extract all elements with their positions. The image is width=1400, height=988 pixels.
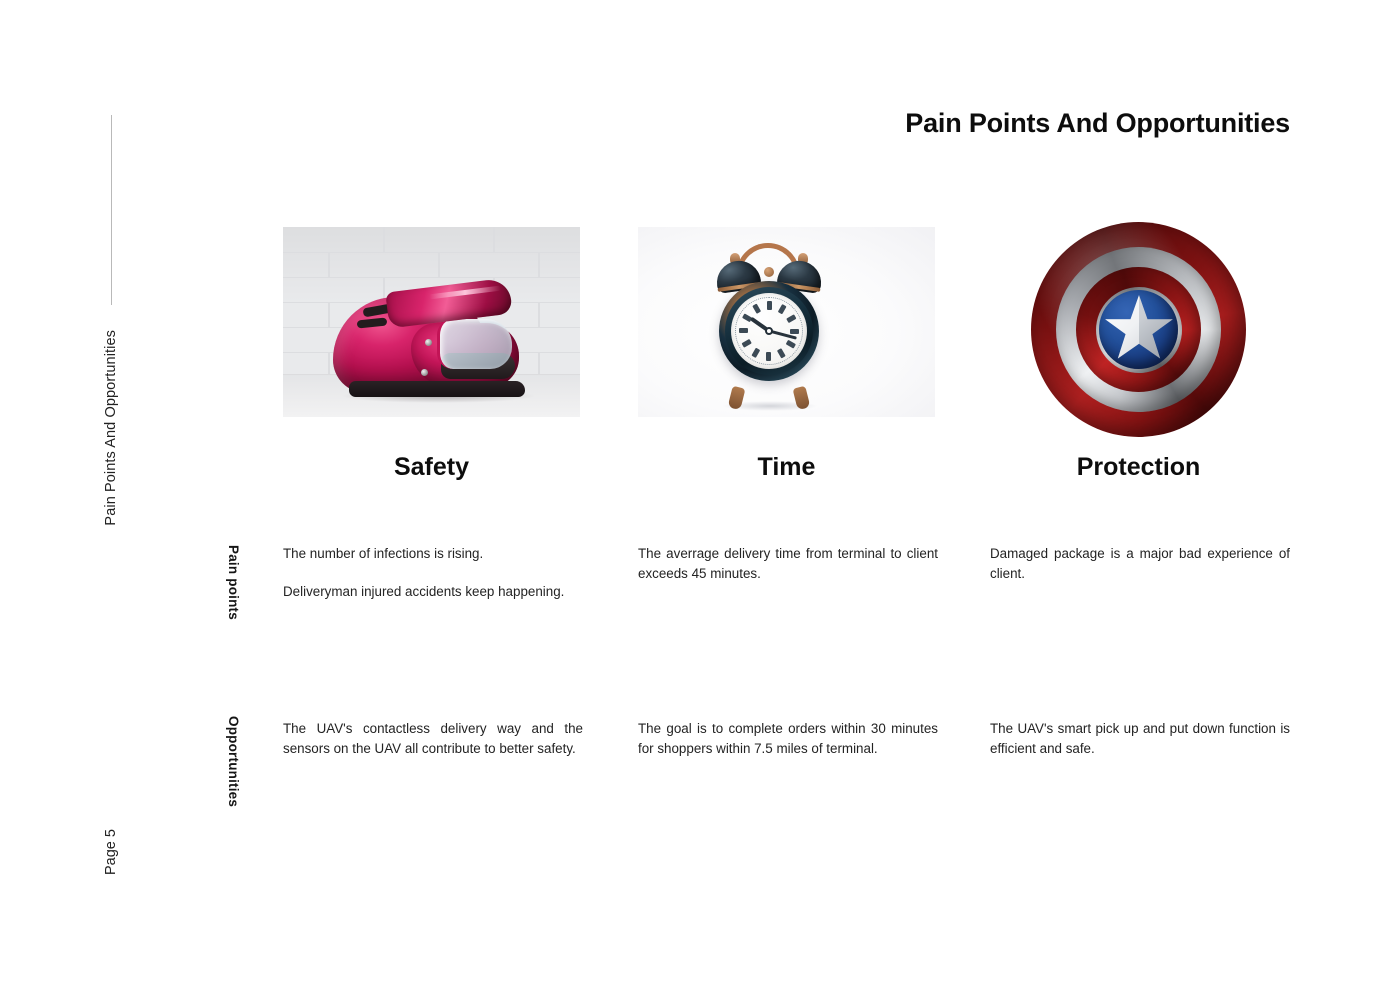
column-1-image-helmet: Red metallic motorcycle helmet in front …: [283, 227, 580, 417]
row-label-pain-points: Pain points: [226, 545, 241, 620]
pain-point-text: Deliveryman injured accidents keep happe…: [283, 582, 583, 602]
pain-point-text: The number of infections is rising.: [283, 544, 583, 564]
shield-icon: [1031, 222, 1246, 437]
star-icon: [1103, 293, 1175, 365]
sidebar-rule: [111, 115, 112, 305]
sidebar-chapter-label: Pain Points And Opportunities: [103, 330, 119, 526]
column-1-pain-points: The number of infections is rising. Deli…: [283, 544, 583, 603]
helmet-illustration: [333, 279, 543, 399]
column-2-pain-points: The averrage delivery time from terminal…: [638, 544, 938, 585]
column-2-opportunities: The goal is to complete orders within 30…: [638, 719, 938, 760]
column-3-heading: Protection: [990, 453, 1287, 482]
column-3-opportunities: The UAV's smart pick up and put down fun…: [990, 719, 1290, 760]
clock-face: [731, 293, 807, 369]
column-2-image-alarm-clock: Vintage twin-bell alarm clock with Roman…: [638, 227, 935, 417]
sidebar-page-number: Page 5: [103, 829, 119, 875]
column-3-pain-points: Damaged package is a major bad experienc…: [990, 544, 1290, 585]
pain-point-text: The averrage delivery time from terminal…: [638, 544, 938, 585]
column-2-heading: Time: [638, 453, 935, 482]
row-label-opportunities: Opportunities: [226, 716, 241, 807]
opportunity-text: The UAV's smart pick up and put down fun…: [990, 719, 1290, 760]
column-1-opportunities: The UAV's contactless delivery way and t…: [283, 719, 583, 760]
column-1-heading: Safety: [283, 453, 580, 482]
clock-background: [638, 227, 935, 417]
pain-point-text: Damaged package is a major bad experienc…: [990, 544, 1290, 585]
column-3-image-shield: Red, silver and blue concentric shield w…: [990, 227, 1287, 417]
page-title: Pain Points And Opportunities: [905, 108, 1290, 139]
opportunity-text: The UAV's contactless delivery way and t…: [283, 719, 583, 760]
opportunity-text: The goal is to complete orders within 30…: [638, 719, 938, 760]
shield-background: [990, 227, 1287, 417]
brick-wall-background: [283, 227, 580, 417]
alarm-clock-illustration: [714, 239, 824, 409]
